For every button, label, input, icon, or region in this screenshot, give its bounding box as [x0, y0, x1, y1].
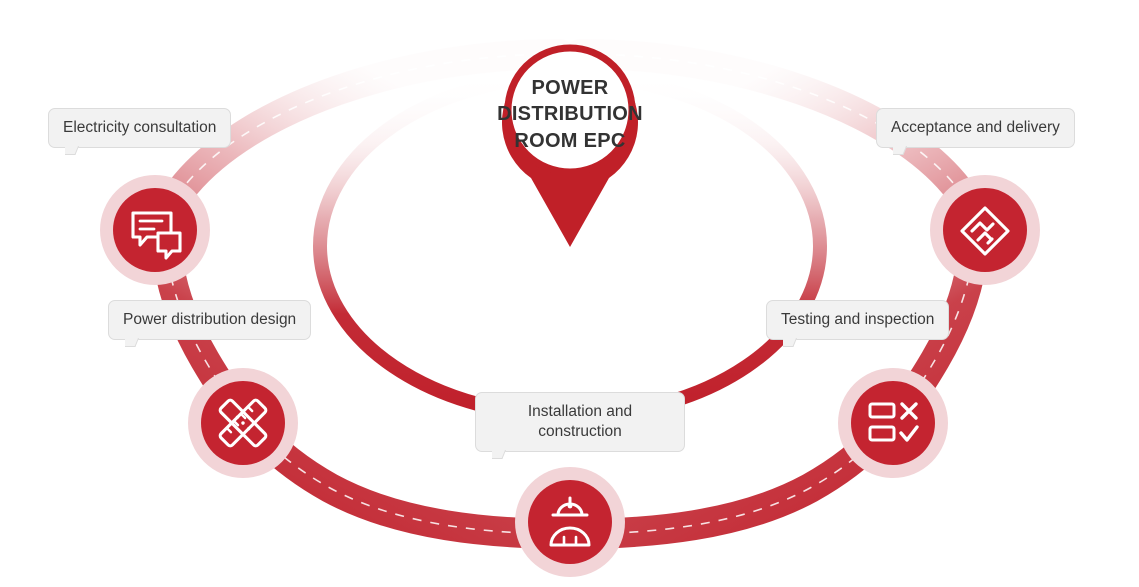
- step-label-acceptance-delivery[interactable]: Acceptance and delivery: [876, 108, 1075, 148]
- step-label-testing-inspection[interactable]: Testing and inspection: [766, 300, 949, 340]
- step-label-text-line-1: Installation and: [490, 402, 670, 422]
- node-power-distribution-design[interactable]: [188, 368, 298, 478]
- pin-title-line-3: ROOM EPC: [475, 128, 665, 154]
- node-testing-inspection[interactable]: [838, 368, 948, 478]
- label-tail: [893, 146, 907, 160]
- step-label-text: Power distribution design: [123, 311, 296, 328]
- step-label-text-line-2: construction: [490, 422, 670, 442]
- label-tail: [65, 146, 79, 160]
- diagram-canvas: POWER DISTRIBUTION ROOM EPC Electricity …: [0, 0, 1139, 587]
- node-electricity-consultation[interactable]: [100, 175, 210, 285]
- page-title: POWER DISTRIBUTION ROOM EPC: [475, 75, 665, 154]
- label-tail: [492, 450, 506, 464]
- step-label-text: Acceptance and delivery: [891, 119, 1060, 136]
- node-installation-construction[interactable]: [515, 467, 625, 577]
- label-tail: [783, 338, 797, 352]
- pin-title-line-1: POWER: [475, 75, 665, 101]
- step-label-electricity-consultation[interactable]: Electricity consultation: [48, 108, 231, 148]
- node-acceptance-delivery[interactable]: [930, 175, 1040, 285]
- node-disc: [528, 480, 612, 564]
- node-disc: [113, 188, 197, 272]
- node-disc: [851, 381, 935, 465]
- step-label-text: Testing and inspection: [781, 311, 934, 328]
- label-tail: [125, 338, 139, 352]
- step-label-text: Electricity consultation: [63, 119, 216, 136]
- pin-title-line-2: DISTRIBUTION: [475, 101, 665, 127]
- step-label-installation-construction[interactable]: Installation and construction: [475, 392, 685, 452]
- step-label-power-distribution-design[interactable]: Power distribution design: [108, 300, 311, 340]
